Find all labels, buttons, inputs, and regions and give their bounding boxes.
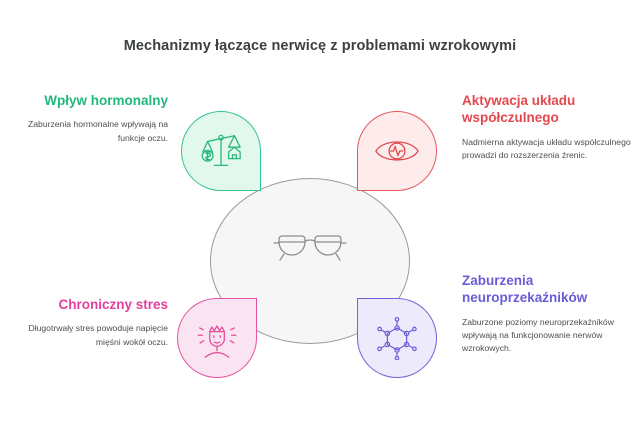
description-chronic-stress: Długotrwały stres powoduje napięcie mięś… [4,322,168,349]
heading-hormonal: Wpływ hormonalny [8,92,168,109]
heading-sympathetic: Aktywacja układu współczulnego [462,92,634,127]
text-block-hormonal: Wpływ hormonalny Zaburzenia hormonalne w… [8,92,168,145]
heading-chronic-stress: Chroniczny stres [4,296,168,313]
text-block-neurotransmitters: Zaburzenia neuroprzekaźników Zaburzone p… [462,272,636,355]
page-title: Mechanizmy łączące nerwicę z problemami … [0,38,640,54]
glasses-icon [272,226,348,270]
text-block-sympathetic: Aktywacja układu współczulnego Nadmierna… [462,92,634,162]
infographic-canvas: Mechanizmy łączące nerwicę z problemami … [0,0,640,428]
heading-neurotransmitters: Zaburzenia neuroprzekaźników [462,272,636,307]
petal-chronic-stress[interactable] [177,298,257,378]
description-hormonal: Zaburzenia hormonalne wpływają na funkcj… [8,118,168,145]
text-block-chronic-stress: Chroniczny stres Długotrwały stres powod… [4,296,168,349]
description-sympathetic: Nadmierna aktywacja układu współczulnego… [462,136,634,163]
petal-hormonal[interactable] [181,111,261,191]
petal-neurotransmitters[interactable] [357,298,437,378]
description-neurotransmitters: Zaburzone poziomy neuroprzekaźników wpły… [462,316,636,356]
petal-sympathetic[interactable] [357,111,437,191]
